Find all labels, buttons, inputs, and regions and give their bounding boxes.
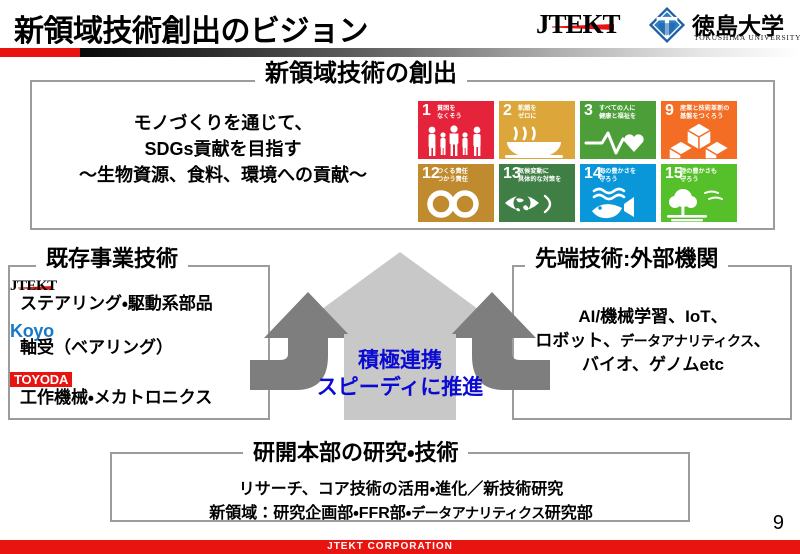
- collaboration-caption-line-2: スピーディに推進: [285, 375, 515, 402]
- sdg-eye-globe-icon: [499, 184, 575, 222]
- brand-logo-text: TOYODA: [10, 372, 72, 387]
- sdg-goal-number: 1: [422, 103, 431, 119]
- sdg-goal-label: 陸の豊かさも 守ろう: [680, 168, 717, 184]
- sdg-goal-number: 2: [503, 103, 512, 119]
- sdg-goal-label: 気候変動に 具体的な対策を: [518, 168, 561, 184]
- rnd-body-line-2a: 新領域：研究企画部・FFR部・: [209, 505, 411, 522]
- footer-text: JTEKT CORPORATION: [0, 540, 800, 554]
- collaboration-caption: 積極連携 スピーディに推進: [285, 348, 515, 402]
- vision-statement-line-1: モノづくりを通じて、: [48, 110, 398, 136]
- sdg-tree-icon: [661, 184, 737, 222]
- sdg-goal-15-icon: 15陸の豊かさも 守ろう: [661, 164, 737, 222]
- header-rule-gradient-segment: [80, 48, 800, 57]
- heading-existing-business-technology: 既存事業技術: [36, 248, 188, 270]
- sdg-people-icon: [418, 121, 494, 159]
- advanced-technology-body: AI/機械学習、IoT、 ロボット、デ゙ータアナリティクス、 バイオ、ゲノムet…: [520, 305, 786, 376]
- brand-block-koyo: Koyo軸受（ベアリング）: [10, 322, 260, 357]
- slide-canvas: 新領域技術創出のビジョン JTEKT 徳島大学 TOKUSHIMA UNIVER…: [0, 0, 800, 554]
- heading-new-domain-creation: 新領域技術の創出: [255, 62, 467, 86]
- sdg-icon-grid: 1貧困を なくそう2飢餓を ゼロに3すべての人に 健康と福祉を9産業と技術革新の…: [418, 101, 737, 222]
- brand-logo-text: JTEKT: [10, 278, 57, 294]
- sdg-goal-number: 9: [665, 103, 674, 119]
- sdg-infinity-icon: [418, 184, 494, 222]
- sdg-goal-1-icon: 1貧困を なくそう: [418, 101, 494, 159]
- brand-block-toyoda: TOYODA工作機械・メカトロニクス: [10, 372, 260, 407]
- brand-block-jtekt: JTEKTステアリング・駆動系部品: [10, 278, 260, 313]
- sdg-goal-label: 貧困を なくそう: [437, 105, 462, 121]
- page-title: 新領域技術創出のビジョン: [14, 6, 368, 50]
- sdg-goal-label: つくる責任 つかう責任: [437, 168, 468, 184]
- sdg-goal-2-icon: 2飢餓を ゼロに: [499, 101, 575, 159]
- tokushima-university-subtitle: TOKUSHIMA UNIVERSITY: [694, 33, 800, 42]
- vision-statement: モノづくりを通じて、 SDGs貢献を目指す ～生物資源、食料、環境への貢献～: [48, 110, 398, 188]
- brand-logo-koyo: Koyo: [10, 322, 260, 339]
- sdg-goal-label: 飢餓を ゼロに: [518, 105, 537, 121]
- rnd-body-line-2c: 研究部: [545, 505, 593, 522]
- heading-advanced-technology-external: 先端技術:外部機関: [525, 248, 728, 270]
- sdg-bowl-icon: [499, 121, 575, 159]
- page-number: 9: [773, 512, 784, 535]
- rnd-body-line-1: リサーチ、コア技術の活用・進化／新技術研究: [115, 478, 687, 502]
- header-divider-rule: [0, 48, 800, 57]
- sdg-goal-3-icon: 3すべての人に 健康と福祉を: [580, 101, 656, 159]
- brand-description: 工作機械・メカトロニクス: [10, 389, 260, 407]
- sdg-goal-13-icon: 13気候変動に 具体的な対策を: [499, 164, 575, 222]
- tokushima-university-logo: 徳島大学 TOKUSHIMA UNIVERSITY: [648, 5, 798, 47]
- sdg-goal-9-icon: 9産業と技術革新の 基盤をつくろう: [661, 101, 737, 159]
- brand-description: ステアリング・駆動系部品: [10, 295, 260, 313]
- brand-logo-toyoda: TOYODA: [10, 372, 260, 389]
- jtekt-logo-text: JTEKT: [536, 9, 620, 39]
- sdg-goal-number: 3: [584, 103, 593, 119]
- sdg-goal-label: すべての人に 健康と福祉を: [599, 105, 636, 121]
- heading-rnd-headquarters: 研開本部の研究・技術: [243, 442, 468, 464]
- brand-logo-jtekt: JTEKT: [10, 278, 260, 295]
- vision-statement-line-3: ～生物資源、食料、環境への貢献～: [48, 162, 398, 188]
- header-rule-red-segment: [0, 48, 80, 57]
- sdg-pulse-icon: [580, 121, 656, 159]
- rnd-body-line-2b: デ゙ータアナリティクス: [411, 505, 544, 521]
- vision-statement-line-2: SDGs貢献を目指す: [48, 136, 398, 162]
- collaboration-caption-line-1: 積極連携: [285, 348, 515, 375]
- jtekt-logo: JTEKT: [536, 9, 620, 40]
- sdg-goal-label: 海の豊かさを 守ろう: [599, 168, 636, 184]
- advanced-technology-line-3: バイオ、ゲノムetc: [520, 353, 786, 377]
- sdg-fish-icon: [580, 184, 656, 222]
- rnd-body-line-2: 新領域：研究企画部・FFR部・デ゙ータアナリティクス研究部: [115, 502, 687, 526]
- sdg-goal-label: 産業と技術革新の 基盤をつくろう: [680, 105, 730, 121]
- rnd-headquarters-body: リサーチ、コア技術の活用・進化／新技術研究 新領域：研究企画部・FFR部・デ゙ー…: [115, 478, 687, 526]
- advanced-technology-line-2c: 、: [754, 331, 771, 350]
- sdg-cubes-icon: [661, 121, 737, 159]
- advanced-technology-line-1: AI/機械学習、IoT、: [520, 305, 786, 329]
- tokushima-diamond-icon: [648, 6, 686, 44]
- advanced-technology-line-2: ロボット、デ゙ータアナリティクス、: [520, 329, 786, 353]
- sdg-goal-14-icon: 14海の豊かさを 守ろう: [580, 164, 656, 222]
- sdg-goal-12-icon: 12つくる責任 つかう責任: [418, 164, 494, 222]
- advanced-technology-line-2b: デ゙ータアナリティクス: [620, 333, 753, 349]
- brand-description: 軸受（ベアリング）: [10, 339, 260, 357]
